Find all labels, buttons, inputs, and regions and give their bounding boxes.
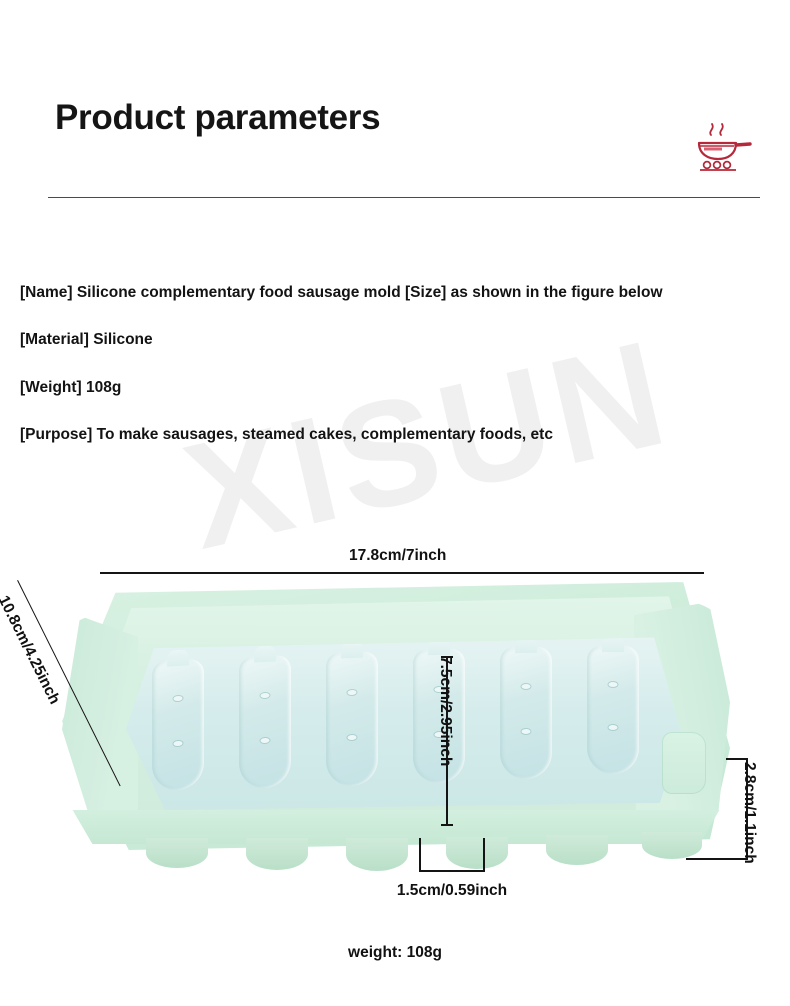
dimension-line-length: [100, 572, 704, 574]
cavity-bottom-bump: [146, 838, 208, 868]
mold-cavity: [326, 651, 378, 787]
cavity-bottom-bump: [346, 838, 408, 871]
dimension-bracket-left: [419, 838, 421, 870]
product-dimension-figure: 17.8cm/7inch 10.8cm/4.25inch 7.5cm/2.95i…: [0, 520, 790, 940]
mold-cavity: [587, 646, 639, 774]
header-divider: [48, 197, 760, 198]
cavity-vent-hole: [348, 735, 357, 740]
dimension-bracket-right: [483, 838, 485, 870]
dimension-height: 2.8cm/1.1inch: [686, 758, 748, 858]
cavity-vent-hole: [348, 689, 357, 694]
cavity-vent-hole: [609, 682, 618, 687]
spec-line-weight: [Weight] 108g: [20, 379, 121, 397]
dimension-tick-top: [726, 758, 748, 760]
dimension-label-cavity-width: 1.5cm/0.59inch: [356, 882, 548, 900]
dimension-label-height: 2.8cm/1.1inch: [740, 762, 758, 864]
dimension-cavity-width: 1.5cm/0.59inch: [419, 838, 485, 870]
mold-cavity: [500, 647, 552, 779]
dimension-label-cavity-length: 7.5cm/2.95inch: [436, 656, 454, 766]
frying-pan-icon: [694, 118, 754, 176]
dimension-bracket-bottom: [419, 870, 485, 872]
cavity-vent-hole: [522, 684, 531, 689]
cavity-vent-hole: [174, 740, 183, 746]
cavity-bottom-bump: [246, 838, 308, 870]
spec-line-name: [Name] Silicone complementary food sausa…: [20, 284, 663, 302]
cavity-neck: [254, 646, 276, 663]
page-title: Product parameters: [55, 98, 380, 138]
mold-cavity: [239, 655, 291, 789]
silicone-mold-tray-image: [62, 582, 730, 872]
cavity-neck: [167, 649, 189, 666]
product-parameters-page: XISUN Product parameters [Name] Silicone…: [0, 0, 790, 1006]
tray-left-wall: [62, 616, 138, 826]
mold-cavity: [152, 659, 204, 792]
cavity-vent-hole: [609, 725, 618, 730]
cavity-vent-hole: [261, 693, 270, 698]
cavity-vent-hole: [261, 738, 270, 743]
dimension-cap-bottom: [441, 824, 453, 826]
cavity-bottom-bump: [546, 835, 608, 865]
weight-caption: weight: 108g: [0, 944, 790, 962]
spec-line-purpose: [Purpose] To make sausages, steamed cake…: [20, 426, 553, 444]
spec-line-material: [Material] Silicone: [20, 331, 153, 349]
cavity-vent-hole: [522, 729, 531, 734]
cavity-neck: [341, 642, 363, 659]
dimension-label-length: 17.8cm/7inch: [349, 547, 446, 565]
dimension-tick-bottom: [686, 858, 748, 860]
cavity-vent-hole: [174, 696, 183, 702]
tray-inner-basin: [126, 634, 682, 810]
